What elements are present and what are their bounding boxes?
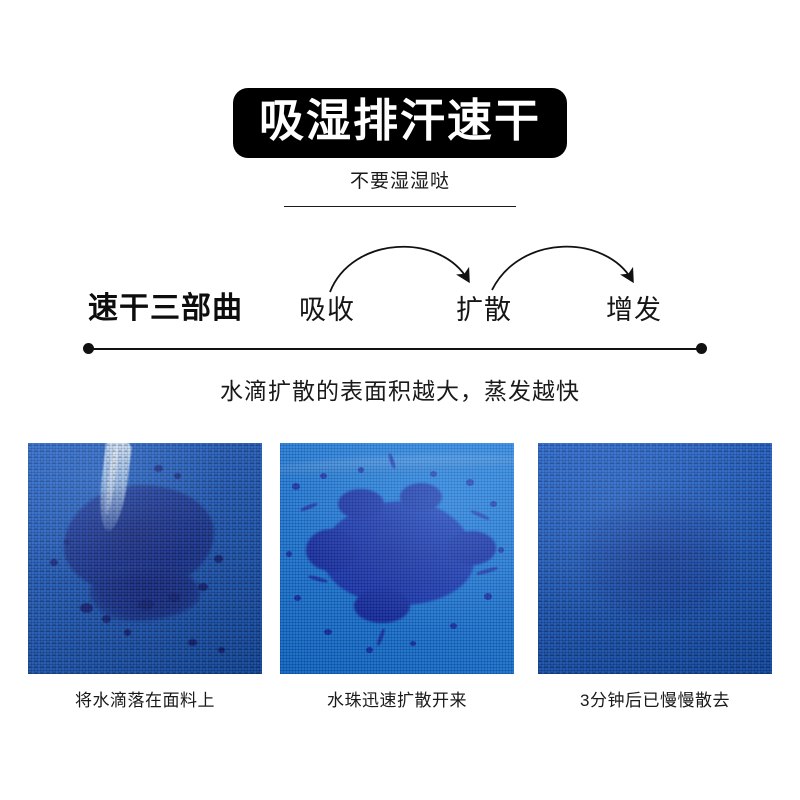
tagline-text: 水滴扩散的表面积越大，蒸发越快 [220,378,580,404]
baseline-dot-right [696,343,707,354]
process-step-absorb: 吸收 [299,288,355,332]
process-diagram: 速干三部曲 吸收 扩散 增发 [0,228,800,358]
process-baseline [88,348,702,350]
fabric-surface-3 [538,443,772,674]
process-step-evaporate: 增发 [606,288,662,332]
photo-caption-1: 将水滴落在面料上 [28,686,262,716]
fabric-surface-1 [28,443,262,674]
demo-photo-panels [0,443,800,674]
process-label: 速干三部曲 [88,286,243,332]
banner-title-text: 吸湿排汗速干 [259,94,541,148]
fabric-lighting-1 [28,443,262,674]
fabric-surface-2 [280,443,514,674]
process-step-spread: 扩散 [456,288,512,332]
tagline-row: 水滴扩散的表面积越大，蒸发越快 [0,375,800,407]
fabric-lighting-3 [538,443,772,674]
subtitle-row: 不要湿湿哒 [0,170,800,194]
title-banner: 吸湿排汗速干 [233,88,567,158]
photo-captions: 将水滴落在面料上 水珠迅速扩散开来 3分钟后已慢慢散去 [0,686,800,720]
photo-caption-3: 3分钟后已慢慢散去 [538,686,772,716]
photo-caption-2: 水珠迅速扩散开来 [280,686,514,716]
fabric-lighting-2 [280,443,514,674]
demo-photo-3 [538,443,772,674]
title-banner-row: 吸湿排汗速干 [0,88,800,158]
product-feature-page: 吸湿排汗速干 不要湿湿哒 速干三部曲 吸收 扩散 增发 水滴扩散的表面积越大， [0,0,800,800]
process-steps-row: 速干三部曲 吸收 扩散 增发 [0,286,800,344]
subtitle-divider [284,206,516,207]
baseline-dot-left [83,343,94,354]
arrow-spread-to-evaporate [492,247,632,290]
subtitle-text: 不要湿湿哒 [350,171,450,192]
demo-photo-1 [28,443,262,674]
demo-photo-2 [280,443,514,674]
